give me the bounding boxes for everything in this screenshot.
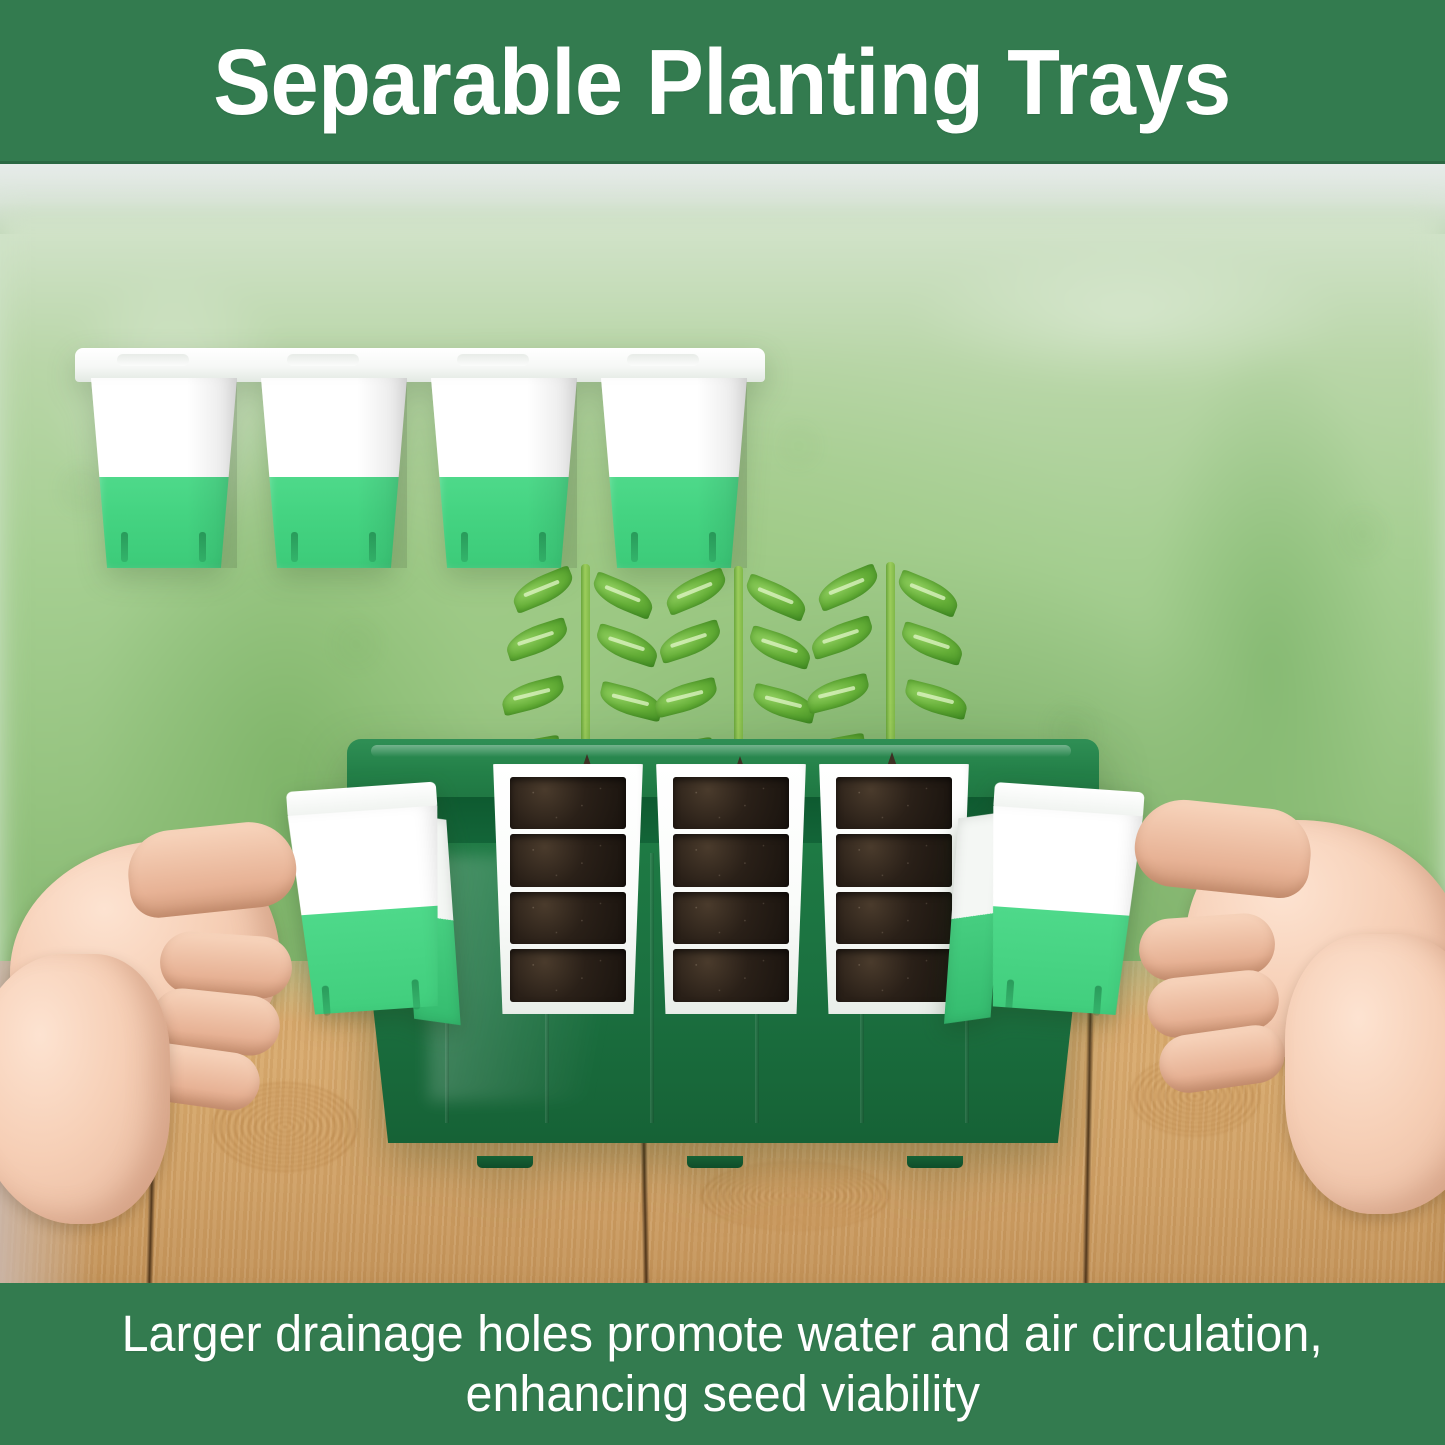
- soil-cell: [836, 777, 951, 830]
- soil-cell: [673, 777, 788, 830]
- wrist: [1285, 934, 1445, 1214]
- leaf: [902, 679, 971, 721]
- soil-cell: [836, 892, 951, 945]
- soil-cell: [510, 949, 625, 1002]
- soil-cell: [836, 834, 951, 887]
- soil-cell: [673, 949, 788, 1002]
- page-title: Separable Planting Trays: [214, 36, 1232, 129]
- leaf: [893, 569, 962, 618]
- leaf: [813, 563, 882, 612]
- tray-foot: [477, 1156, 533, 1168]
- header-banner: Separable Planting Trays: [0, 0, 1445, 164]
- leaf: [804, 673, 873, 715]
- thumb: [1131, 795, 1315, 901]
- leaf: [655, 619, 724, 664]
- soil-cell: [673, 834, 788, 887]
- seated-cell-strip: [653, 764, 809, 1014]
- soil-cell: [836, 949, 951, 1002]
- soil-cell: [510, 834, 625, 887]
- tray-rib: [650, 853, 654, 1123]
- leaf: [661, 567, 730, 616]
- leaf: [508, 565, 577, 614]
- caption-line-1: Larger drainage holes promote water and …: [122, 1304, 1323, 1364]
- thumb: [124, 817, 300, 920]
- soil-cell: [673, 892, 788, 945]
- leaf: [502, 617, 571, 662]
- caption-line-2: enhancing seed viability: [465, 1364, 979, 1424]
- hand-left: [10, 804, 330, 1204]
- leaf: [499, 675, 568, 717]
- leaf: [897, 621, 966, 666]
- tray-foot: [687, 1156, 743, 1168]
- cell-body: [979, 806, 1143, 1016]
- wrist: [0, 954, 170, 1224]
- product-marketing-image: Separable Planting Trays: [0, 0, 1445, 1445]
- leaf: [652, 677, 721, 719]
- caption-banner: Larger drainage holes promote water and …: [0, 1283, 1445, 1445]
- soil-cell: [510, 777, 625, 830]
- seated-cell-strip: [490, 764, 646, 1014]
- product-photo: [0, 164, 1445, 1283]
- tray-foot: [907, 1156, 963, 1168]
- tray-rim-highlight: [371, 745, 1071, 757]
- soil-cell: [510, 892, 625, 945]
- leaf: [807, 615, 876, 660]
- hand-right: [1125, 784, 1445, 1194]
